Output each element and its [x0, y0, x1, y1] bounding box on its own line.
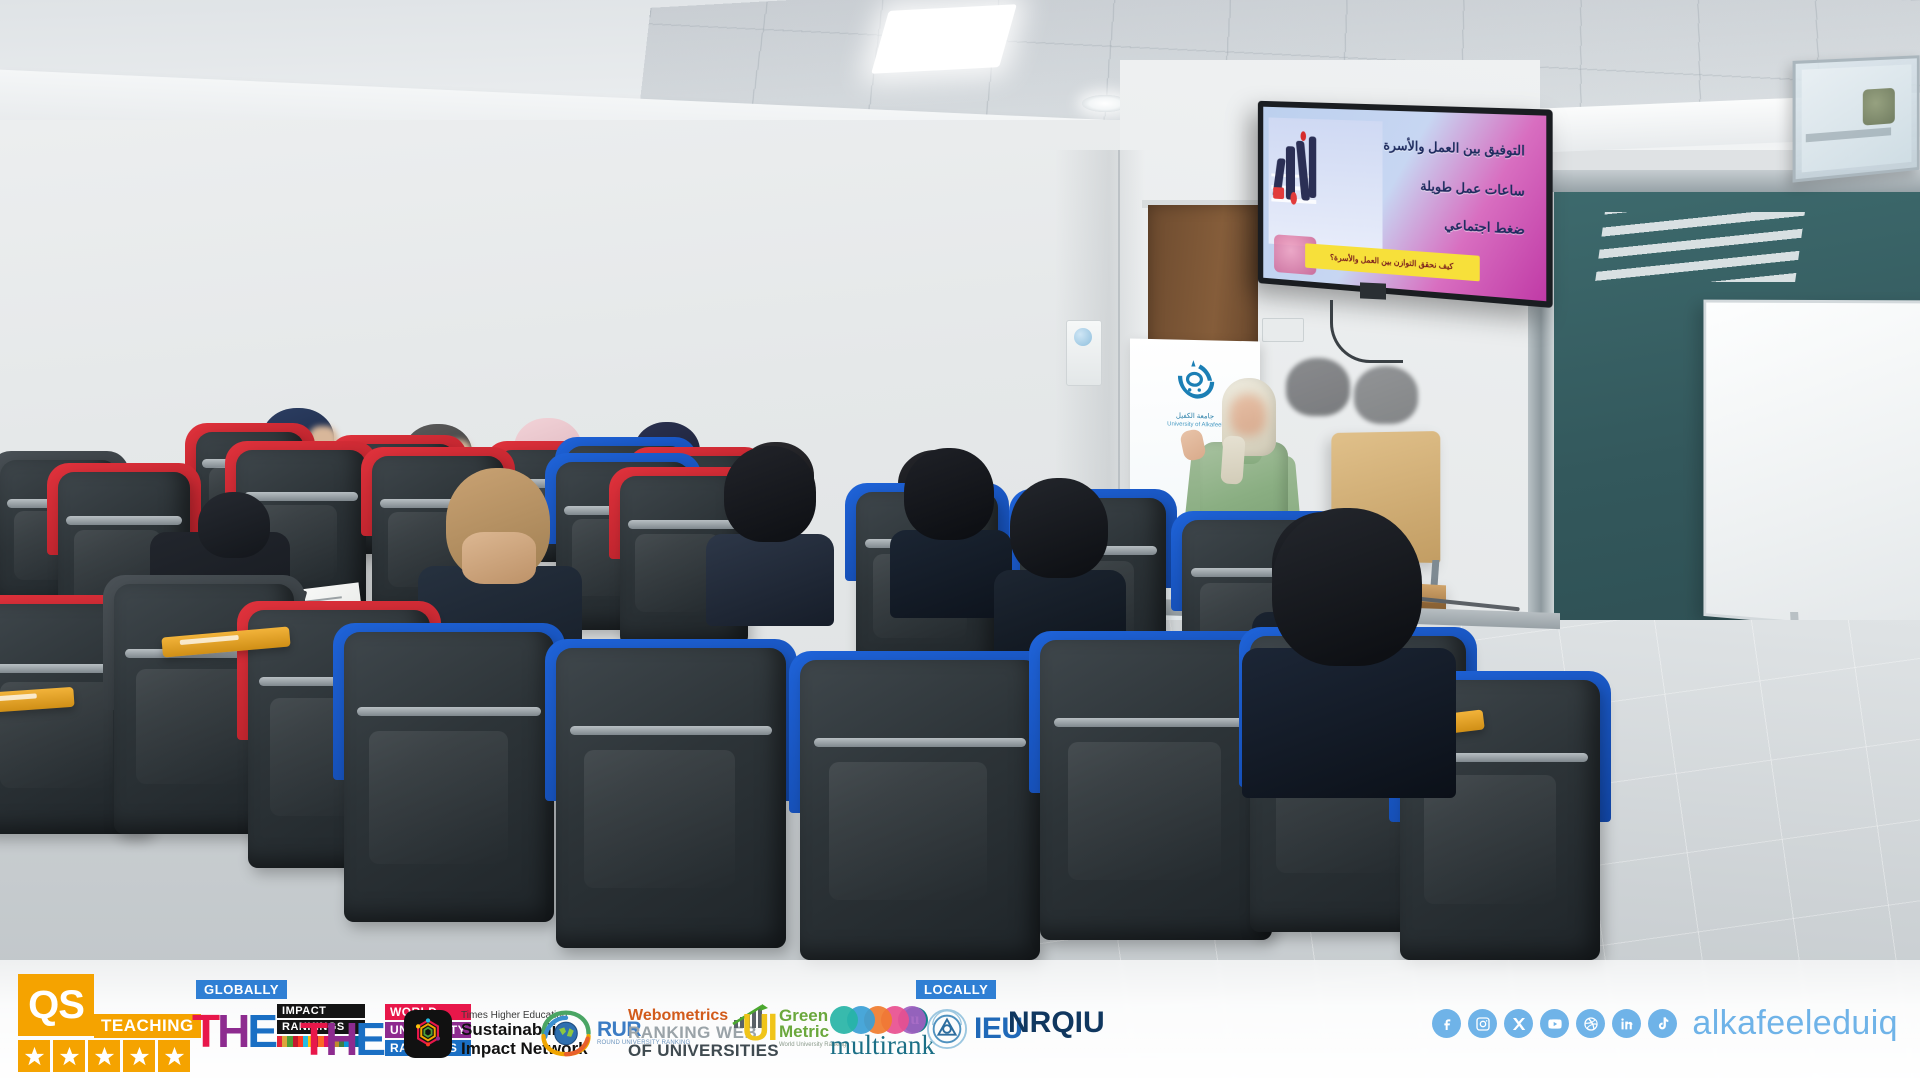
auditorium-seat	[344, 632, 554, 922]
the-wordmark: THE	[300, 1020, 383, 1059]
attendee-curly-hair-man	[1000, 478, 1118, 654]
window-blinds	[1595, 212, 1805, 282]
attendee-foreground-right	[1258, 508, 1438, 788]
slide-highlight-text: كيف نحقق التوازن بين العمل والأسرة؟	[1330, 253, 1453, 271]
star-icon	[158, 1040, 190, 1072]
attendee-dark-hair-man	[896, 448, 1002, 608]
tiktok-icon[interactable]	[1648, 1009, 1677, 1038]
slide-headline: التوفيق بين العمل والأسرة	[1383, 137, 1525, 159]
ceiling-panel-light	[871, 4, 1017, 74]
dribbble-icon[interactable]	[1576, 1009, 1605, 1038]
screenshot-root: التوفيق بين العمل والأسرة ساعات عمل طويل…	[0, 0, 1920, 1080]
the-wordmark: THE	[192, 1012, 275, 1051]
x-twitter-icon[interactable]	[1504, 1009, 1533, 1038]
wall-socket	[1262, 318, 1304, 342]
wall-mounted-display: التوفيق بين العمل والأسرة ساعات عمل طويل…	[1258, 101, 1553, 308]
branding-footer-banner: QS TEACHING GLOBALLY THE IM	[0, 960, 1920, 1080]
social-links: alkafeeleduiq	[1432, 1004, 1898, 1043]
slide-line-3: ضغط اجتماعي	[1444, 217, 1525, 239]
star-icon	[53, 1040, 85, 1072]
facebook-icon[interactable]	[1432, 1009, 1461, 1038]
presenter-hijab-tail	[1220, 435, 1245, 484]
thermostat-dial-icon	[1074, 328, 1092, 346]
qs-rating-logo: QS TEACHING	[18, 974, 94, 1036]
social-handle[interactable]: alkafeeleduiq	[1692, 1004, 1898, 1043]
presenter-face-blurred	[1230, 394, 1266, 436]
youtube-icon[interactable]	[1540, 1009, 1569, 1038]
instagram-icon[interactable]	[1468, 1009, 1497, 1038]
rur-globe-eye-icon	[540, 1010, 592, 1056]
slide-illustration	[1268, 117, 1382, 252]
auditorium-seat	[556, 648, 786, 948]
ui-mark: UI	[742, 1013, 776, 1044]
qs-mark-text: QS	[28, 985, 84, 1025]
qs-mark: QS	[18, 974, 94, 1036]
linkedin-icon[interactable]	[1612, 1009, 1641, 1038]
nrqiu-wordmark: NRQIU	[1008, 1008, 1105, 1038]
attendee-dark-hair-man	[714, 446, 824, 616]
slide-line-2: ساعات عمل طويلة	[1420, 178, 1525, 200]
star-icon	[123, 1040, 155, 1072]
slide-canvas: التوفيق بين العمل والأسرة ساعات عمل طويل…	[1263, 107, 1546, 302]
display-wall-mount	[1360, 282, 1386, 299]
whiteboard	[1703, 300, 1920, 637]
attendee-head	[1286, 358, 1350, 424]
auditorium-seat	[1040, 640, 1272, 940]
hexagon-network-icon	[404, 1010, 452, 1058]
auditorium-seat	[800, 660, 1040, 960]
locally-label: LOCALLY	[916, 980, 996, 999]
seminar-photo: التوفيق بين العمل والأسرة ساعات عمل طويل…	[0, 0, 1920, 1080]
wall-mounted-plaque	[1793, 55, 1920, 182]
qs-star-rating	[18, 1040, 190, 1072]
ieu-seal-icon	[926, 1008, 968, 1050]
globally-label: GLOBALLY	[196, 980, 287, 999]
attendee-head	[1354, 366, 1418, 432]
star-icon	[88, 1040, 120, 1072]
star-icon	[18, 1040, 50, 1072]
slide-highlight-bar: كيف نحقق التوازن بين العمل والأسرة؟	[1306, 243, 1480, 281]
qs-category-label: TEACHING	[94, 1014, 201, 1038]
